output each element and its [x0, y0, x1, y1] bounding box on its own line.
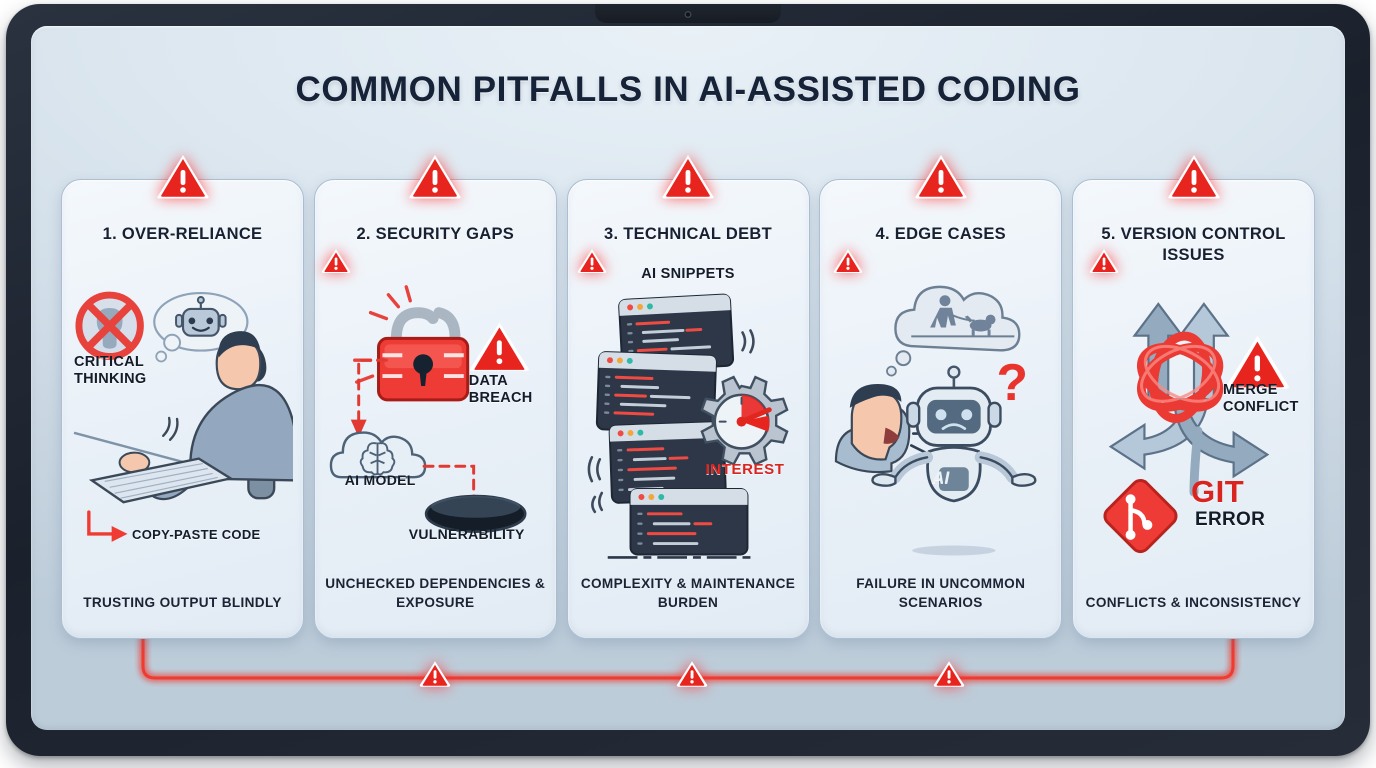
data-breach-label: DATA BREACH — [469, 373, 533, 407]
card-title: 2. SECURITY GAPS — [356, 224, 514, 266]
illustration-edge-cases: ? AI — [830, 268, 1051, 575]
ai-model-label: AI MODEL — [345, 472, 416, 489]
git-error-label: ERROR — [1195, 509, 1265, 531]
card-title: 1. OVER-RELIANCE — [103, 224, 263, 266]
card-footer: CONFLICTS & INCONSISTENCY — [1086, 594, 1302, 622]
svg-text:?: ? — [997, 353, 1028, 411]
ai-brain-cloud-icon — [331, 433, 425, 478]
card-footer: COMPLEXITY & MAINTENANCE BURDEN — [578, 575, 799, 622]
red-arrow-icon — [89, 512, 128, 542]
warning-triangle-icon — [407, 152, 463, 200]
critical-thinking-label: CRITICAL THINKING — [74, 354, 146, 388]
warning-triangle-icon — [155, 152, 211, 200]
pitfall-card-over-reliance[interactable]: 1. OVER-RELIANCE — [61, 179, 304, 639]
warning-triangle-icon — [913, 152, 969, 200]
flow-warning-icon — [676, 660, 708, 688]
pitfall-card-row: 1. OVER-RELIANCE — [61, 179, 1315, 639]
illustration-technical-debt: AI SNIPPETS INTEREST — [578, 268, 799, 575]
connector-warning-icon — [833, 248, 863, 274]
warning-triangle-icon — [1166, 152, 1222, 200]
flow-warning-icon — [933, 660, 965, 688]
connector-warning-icon — [321, 248, 351, 274]
vulnerability-label: VULNERABILITY — [409, 526, 525, 543]
camera-dot-icon — [685, 11, 692, 18]
page-title: COMMON PITFALLS IN AI-ASSISTED CODING — [31, 70, 1345, 110]
merge-conflict-label: MERGE CONFLICT — [1223, 382, 1299, 416]
ai-snippets-label: AI SNIPPETS — [641, 266, 735, 283]
git-label: GIT — [1191, 474, 1244, 511]
flow-warning-icon — [419, 660, 451, 688]
illustration-over-reliance: CRITICAL THINKING COPY-PASTE CODE — [72, 268, 293, 594]
warning-triangle-icon — [660, 152, 716, 200]
card-title: 3. TECHNICAL DEBT — [604, 224, 772, 266]
card-footer: FAILURE IN UNCOMMON SCENARIOS — [830, 575, 1051, 622]
laptop-device-frame: COMMON PITFALLS IN AI-ASSISTED CODING — [6, 4, 1370, 756]
card-footer: TRUSTING OUTPUT BLINDLY — [83, 594, 282, 622]
no-critical-thinking-icon — [79, 295, 140, 356]
card-footer: UNCHECKED DEPENDENCIES & EXPOSURE — [325, 575, 546, 622]
git-badge-icon — [1101, 477, 1179, 555]
screen-canvas: COMMON PITFALLS IN AI-ASSISTED CODING — [31, 26, 1345, 730]
warning-triangle-icon — [470, 323, 529, 372]
copy-paste-code-label: COPY-PASTE CODE — [132, 527, 261, 542]
device-notch — [595, 4, 781, 23]
connector-warning-icon — [1089, 248, 1119, 274]
question-mark-icon: ? — [997, 353, 1028, 411]
connector-warning-icon — [577, 248, 607, 274]
card-title: 4. EDGE CASES — [876, 224, 1006, 266]
illustration-security-gaps: DATA BREACH AI MODEL VULNERABILITY — [325, 268, 546, 575]
interest-label: INTEREST — [706, 461, 785, 479]
broken-padlock-icon — [354, 287, 467, 400]
ai-badge-label: AI — [932, 468, 950, 488]
illustration-version-control: MERGE CONFLICT GIT ERROR — [1083, 268, 1304, 594]
warning-triangle-icon — [1226, 336, 1289, 389]
